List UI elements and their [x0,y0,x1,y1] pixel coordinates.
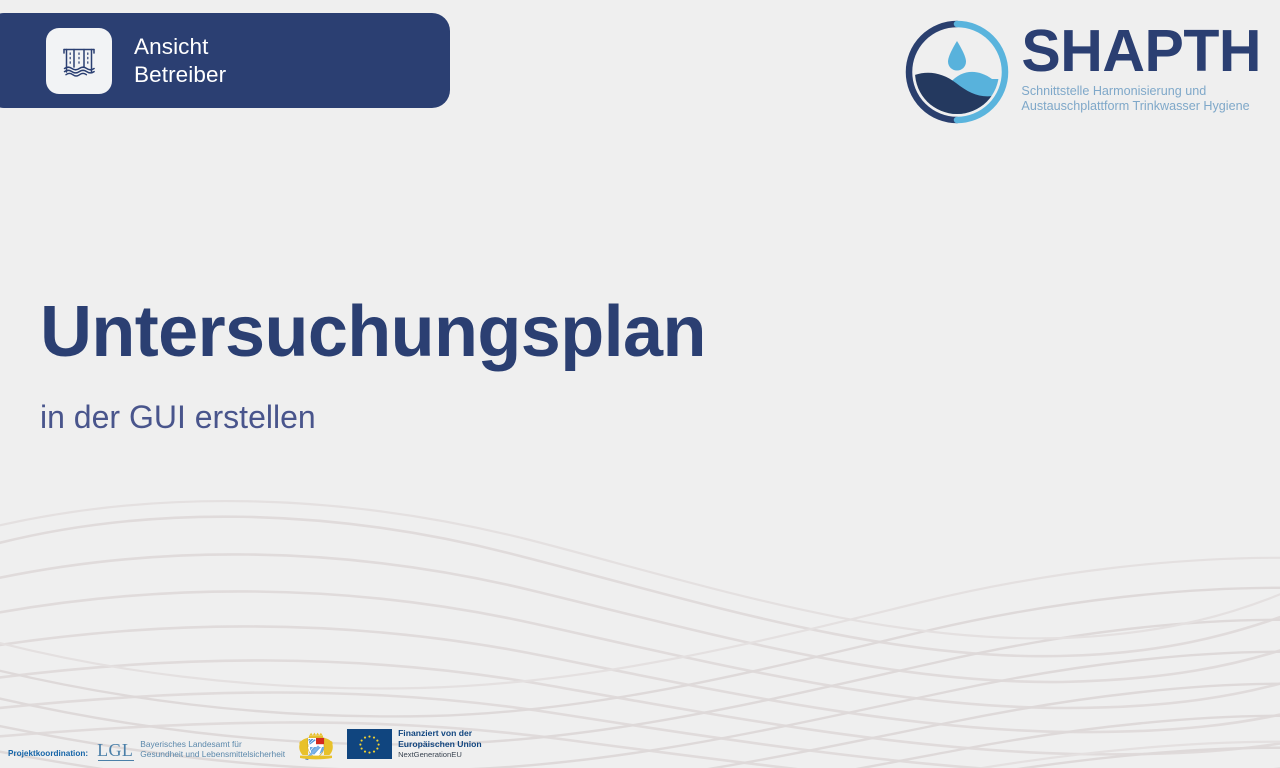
eu-funding-logo: Finanziert von der Europäischen Union Ne… [347,728,482,760]
eu-funding-line-1: Finanziert von der [398,728,482,738]
view-role-label: Ansicht Betreiber [134,33,226,88]
wave-pattern-decoration [0,470,1280,768]
bavarian-coat-of-arms-icon [294,730,338,760]
funding-footer: Projektkoordination: LGL Bayerisches Lan… [8,728,482,760]
presentation-slide: Ansicht Betreiber SHAPTH Schnittste [0,0,1280,768]
slide-headline-block: Untersuchungsplan in der GUI erstellen [40,292,940,436]
page-title: Untersuchungsplan [40,292,940,372]
eu-funding-text: Finanziert von der Europäischen Union Ne… [398,728,482,760]
eu-funding-text-main: Finanziert von der Europäischen Union [398,728,482,749]
shapth-wordmark: SHAPTH [1021,21,1261,81]
lgl-logo: LGL Bayerisches Landesamt für Gesundheit… [97,739,285,760]
eu-funding-programme: NextGenerationEU [398,750,482,760]
shapth-logo: SHAPTH Schnittstelle Harmonisierung und … [904,19,1261,125]
view-role-line-1: Ansicht [134,33,226,61]
shapth-tagline: Schnittstelle Harmonisierung und Austaus… [1021,84,1261,114]
european-union-flag-icon [347,729,392,759]
lgl-name: Bayerisches Landesamt für Gesundheit und… [140,739,285,760]
view-role-badge[interactable]: Ansicht Betreiber [0,13,450,108]
shapth-logo-text: SHAPTH Schnittstelle Harmonisierung und … [1021,19,1261,114]
lgl-name-line-1: Bayerisches Landesamt für [140,739,285,749]
dam-water-reservoir-icon [46,28,112,94]
shapth-tagline-line-2: Austauschplattform Trinkwasser Hygiene [1021,99,1261,114]
shapth-tagline-line-1: Schnittstelle Harmonisierung und [1021,84,1261,99]
project-coordination-label: Projektkoordination: [8,749,88,760]
eu-funding-line-2: Europäischen Union [398,739,482,749]
lgl-name-line-2: Gesundheit und Lebensmittelsicherheit [140,749,285,759]
page-subtitle: in der GUI erstellen [40,398,940,436]
lgl-wordmark: LGL [97,741,133,760]
view-role-line-2: Betreiber [134,61,226,89]
shapth-water-droplet-circle-logo [904,19,1010,125]
